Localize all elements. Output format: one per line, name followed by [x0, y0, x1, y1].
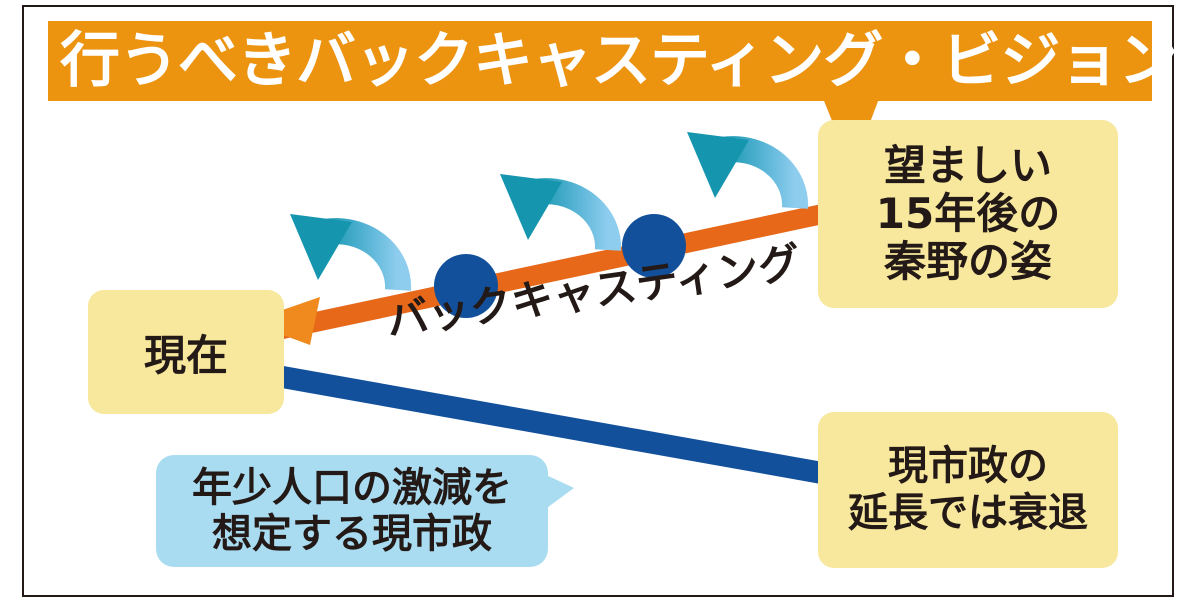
callout-line: 現在 — [144, 322, 228, 383]
callout-current-policy-assumption: 年少人口の激減を 想定する現市政 — [156, 455, 548, 567]
callout-line: 望ましい — [884, 142, 1052, 190]
backcast-step-arrow — [290, 214, 398, 290]
infographic-canvas: 行うべきバックキャスティング・ビジョン 望ましい 15年後の 秦野の姿 現在 現… — [0, 0, 1200, 605]
backcast-step-arrow — [687, 132, 795, 208]
callout-present-state: 現在 — [88, 290, 284, 414]
callout-line: 現市政の — [888, 443, 1048, 490]
callout-line: 想定する現市政 — [212, 511, 492, 557]
title-banner: 行うべきバックキャスティング・ビジョン — [48, 21, 1152, 101]
callout-decline-outcome: 現市政の 延長では衰退 — [818, 412, 1118, 568]
page-title: 行うべきバックキャスティング・ビジョン — [48, 31, 1177, 91]
callout-desired-future-state: 望ましい 15年後の 秦野の姿 — [818, 120, 1118, 308]
callout-line: 延長では衰退 — [848, 490, 1088, 537]
callout-line: 秦野の姿 — [884, 238, 1052, 286]
speech-bubble-tail — [544, 474, 574, 510]
callout-line: 15年後の — [876, 190, 1060, 238]
callout-line: 年少人口の激減を — [192, 465, 512, 511]
backcast-step-arrow — [500, 174, 608, 250]
